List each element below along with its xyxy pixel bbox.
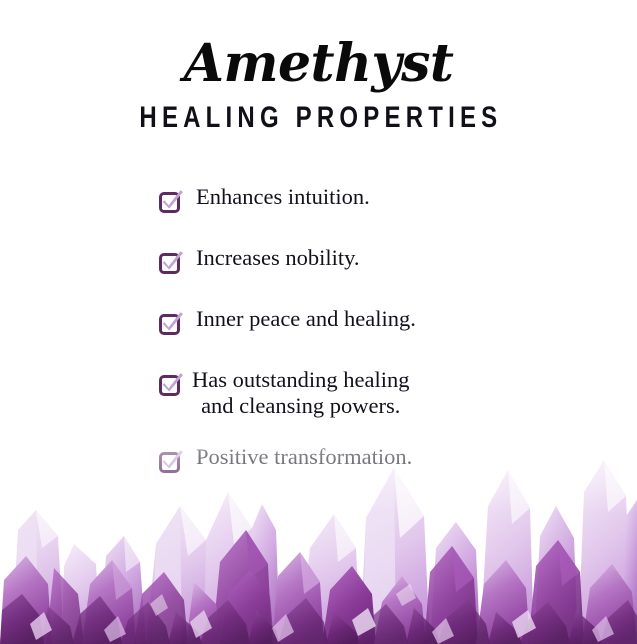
list-item: Has outstanding healing and cleansing po…: [0, 367, 637, 419]
amethyst-healing-properties-card: Amethyst HEALING PROPERTIES Enhances int…: [0, 0, 637, 644]
checkmark-icon: [161, 250, 183, 272]
checkbox-checked-icon: [159, 312, 182, 335]
page-title: Amethyst: [0, 38, 637, 90]
checkmark-icon: [161, 189, 183, 211]
list-item: Increases nobility.: [0, 245, 637, 274]
list-item-label: Inner peace and healing.: [196, 306, 416, 332]
list-item: Inner peace and healing.: [0, 306, 637, 335]
header: Amethyst HEALING PROPERTIES: [0, 0, 637, 133]
checkmark-icon: [161, 372, 183, 394]
list-item-label: Increases nobility.: [196, 245, 360, 271]
amethyst-crystal-cluster-image: [0, 444, 637, 644]
page-subtitle: HEALING PROPERTIES: [64, 103, 574, 133]
checkbox-checked-icon: [159, 251, 182, 274]
list-item: Enhances intuition.: [0, 184, 637, 213]
healing-properties-list: Enhances intuition. Increases nobility. …: [0, 184, 637, 473]
list-item-label: Enhances intuition.: [196, 184, 370, 210]
checkbox-checked-icon: [159, 190, 182, 213]
checkmark-icon: [161, 311, 183, 333]
checkbox-checked-icon: [159, 373, 182, 396]
crystal-cluster-graphic: [0, 444, 637, 644]
list-item-label: Has outstanding healing and cleansing po…: [192, 367, 409, 419]
